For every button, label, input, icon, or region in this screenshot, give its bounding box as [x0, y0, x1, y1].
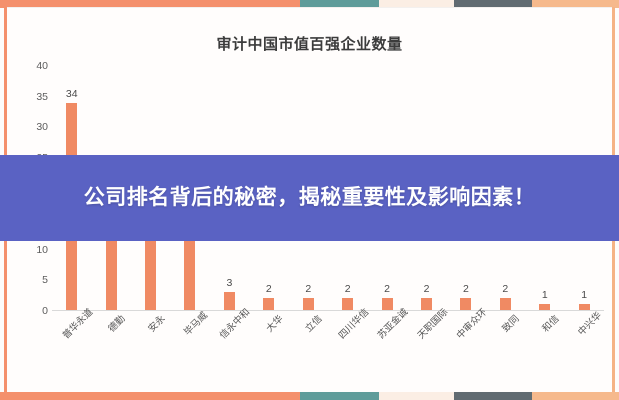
bar-value-label-6: 2	[305, 283, 311, 295]
y-axis-tick-10: 10	[18, 244, 48, 256]
bar-value-label-4: 3	[226, 277, 232, 289]
x-label-cell-5: 大华	[249, 316, 288, 386]
y-axis-tick-35: 35	[18, 91, 48, 103]
strip-cream-2	[379, 392, 453, 400]
x-label-cell-10: 中审众环	[446, 316, 485, 386]
x-axis-labels: 普华永道德勤安永毕马威信永中和大华立信四川华信苏亚金诚天职国际中审众环致同和信中…	[52, 316, 604, 386]
bar-value-label-13: 1	[581, 289, 587, 301]
x-axis-line	[52, 310, 604, 311]
bottom-color-strips	[0, 392, 619, 400]
x-label-cell-8: 苏亚金诚	[367, 316, 406, 386]
slide-screenshot: 审计中国市值百强企业数量 0510152025303540 3416123222…	[0, 0, 619, 400]
chart-title: 审计中国市值百强企业数量	[0, 33, 619, 54]
x-label-cell-9: 天职国际	[407, 316, 446, 386]
bar-value-label-11: 2	[502, 283, 508, 295]
strip-teal-1	[300, 392, 379, 400]
x-label-cell-6: 立信	[289, 316, 328, 386]
bar-毕马威: 12	[184, 237, 195, 310]
x-label-cell-3: 毕马威	[170, 316, 209, 386]
x-label-cell-13: 中兴华	[564, 316, 603, 386]
x-label-cell-2: 安永	[131, 316, 170, 386]
bar-value-label-7: 2	[345, 283, 351, 295]
x-label-cell-0: 普华永道	[52, 316, 91, 386]
bar-苏亚金诚: 2	[382, 298, 393, 310]
x-label-cell-11: 致同	[486, 316, 525, 386]
bar-天职国际: 2	[421, 298, 432, 310]
bar-value-label-9: 2	[424, 283, 430, 295]
bar-信永中和: 3	[224, 292, 235, 310]
bar-中审众环: 2	[460, 298, 471, 310]
strip-coral-0	[0, 392, 300, 400]
caption-text: 公司排名背后的秘密，揭秘重要性及影响因素！	[55, 184, 565, 212]
bar-value-label-0: 34	[66, 88, 78, 100]
x-label-cell-7: 四川华信	[328, 316, 367, 386]
y-axis-tick-5: 5	[18, 274, 48, 286]
caption-banner: 公司排名背后的秘密，揭秘重要性及影响因素！	[0, 155, 619, 241]
x-label-cell-1: 德勤	[91, 316, 130, 386]
y-axis-tick-40: 40	[18, 60, 48, 72]
y-axis-tick-0: 0	[18, 305, 48, 317]
strip-slate-3	[454, 392, 532, 400]
x-label-cell-12: 和信	[525, 316, 564, 386]
y-axis-tick-30: 30	[18, 121, 48, 133]
bar-value-label-10: 2	[463, 283, 469, 295]
bar-value-label-5: 2	[266, 283, 272, 295]
bar-value-label-12: 1	[542, 289, 548, 301]
bar-立信: 2	[303, 298, 314, 310]
bar-大华: 2	[263, 298, 274, 310]
bar-致同: 2	[500, 298, 511, 310]
bar-四川华信: 2	[342, 298, 353, 310]
x-label-cell-4: 信永中和	[210, 316, 249, 386]
bar-value-label-8: 2	[384, 283, 390, 295]
strip-peach-4	[532, 392, 619, 400]
